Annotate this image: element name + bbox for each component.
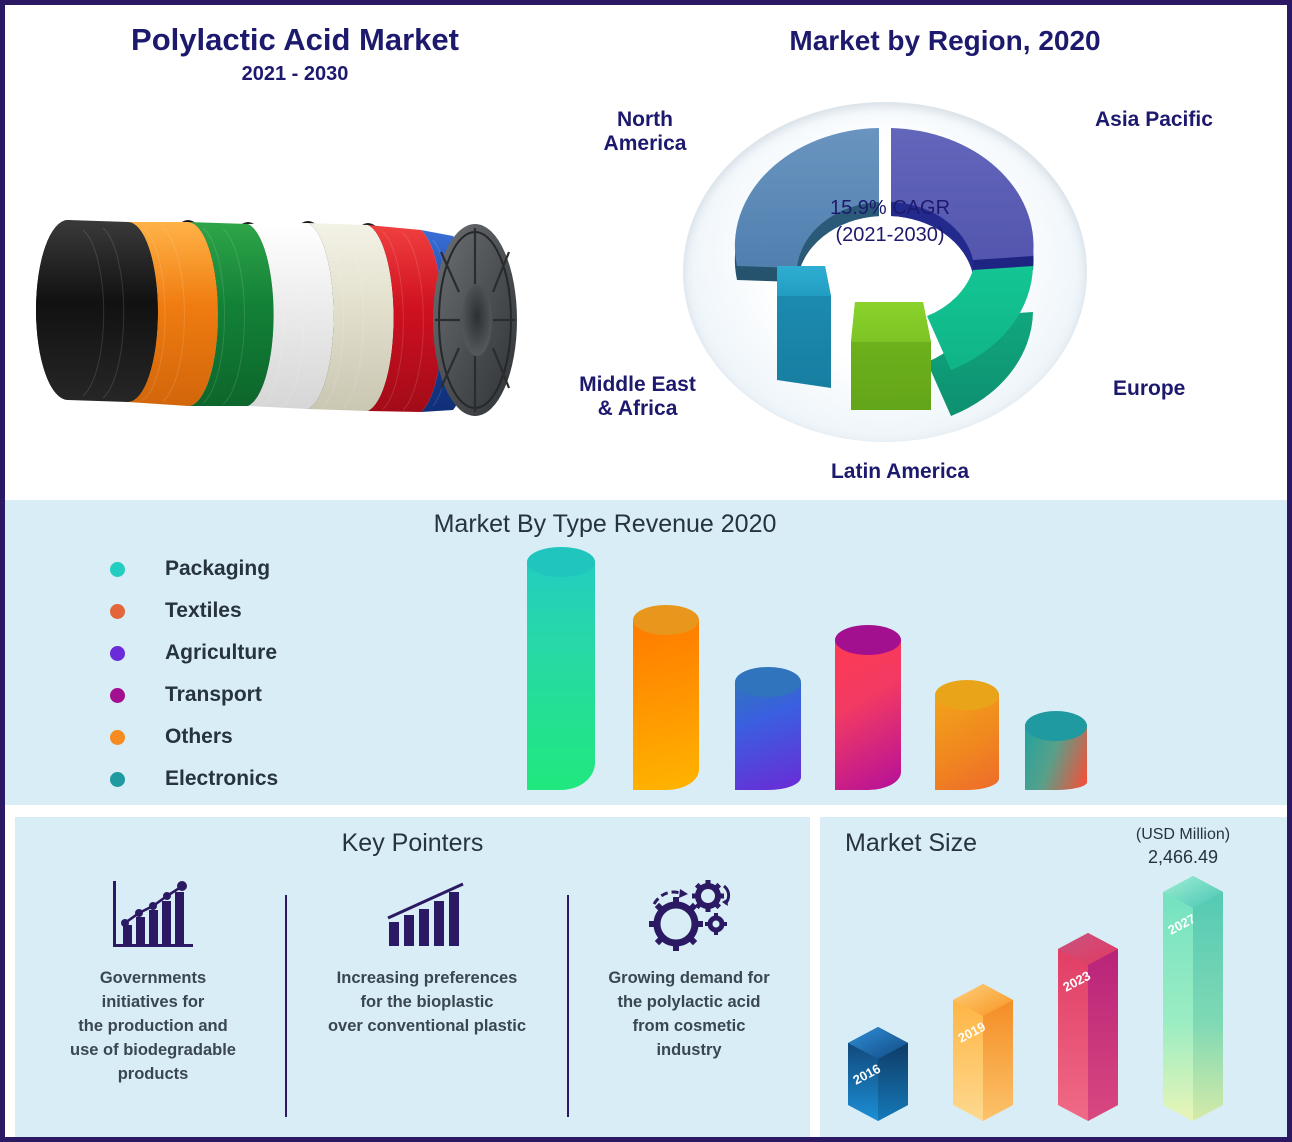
legend-label-packaging: Packaging <box>165 557 270 581</box>
cylinder-top <box>633 605 699 635</box>
size-bar-2019: 2019 <box>953 984 1013 1121</box>
cylinder-body <box>527 562 595 790</box>
cylinder-body <box>735 682 801 790</box>
legend-label-agriculture: Agriculture <box>165 641 277 665</box>
page-subtitle: 2021 - 2030 <box>35 63 555 86</box>
legend-item-transport: Transport <box>110 674 278 716</box>
region-label-asia-pacific: Asia Pacific <box>1095 108 1270 132</box>
cylinder-transport <box>835 640 901 790</box>
region-label-north-america: North America <box>580 108 710 156</box>
pointer-divider-1 <box>285 895 287 1117</box>
type-cylinder-bars <box>505 540 1095 790</box>
key-pointer-1: Governments initiatives for the producti… <box>27 877 279 1087</box>
market-by-type-panel: Market By Type Revenue 2020 Packaging Te… <box>5 500 1287 805</box>
type-chart-title: Market By Type Revenue 2020 <box>305 510 905 539</box>
donut-segment-middle-east-africa <box>777 266 831 388</box>
market-size-bars: 2016 2019 2023 2027 <box>820 817 1287 1137</box>
region-label-europe: Europe <box>1113 377 1243 401</box>
filament-spools-image <box>23 160 523 470</box>
region-label-latin-america: Latin America <box>775 460 1025 484</box>
cylinder-body <box>835 640 901 790</box>
cylinder-others <box>935 694 999 790</box>
infographic-page: Polylactic Acid Market 2021 - 2030 <box>0 0 1292 1142</box>
legend-item-textiles: Textiles <box>110 590 278 632</box>
title-block: Polylactic Acid Market 2021 - 2030 <box>35 23 555 86</box>
legend-label-electronics: Electronics <box>165 767 278 791</box>
region-donut-chart <box>665 80 1105 460</box>
key-pointer-2-text: Increasing preferences for the bioplasti… <box>293 967 561 1039</box>
legend-dot-textiles <box>110 604 125 619</box>
market-size-panel: Market Size (USD Million) 2,466.49 <box>820 817 1287 1137</box>
cagr-annotation: 15.9% CAGR (2021-2030) <box>805 195 975 249</box>
donut-segment-latin-america <box>851 302 931 410</box>
legend-item-electronics: Electronics <box>110 758 278 800</box>
key-pointer-3-text: Growing demand for the polylactic acid f… <box>575 967 803 1063</box>
cylinder-packaging <box>527 562 595 790</box>
type-legend: Packaging Textiles Agriculture Transport… <box>110 548 278 800</box>
cylinder-top <box>835 625 901 655</box>
donut-segment-europe <box>927 266 1033 416</box>
cagr-value: 15.9% CAGR <box>805 195 975 222</box>
page-title: Polylactic Acid Market <box>35 23 555 57</box>
legend-dot-electronics <box>110 772 125 787</box>
legend-dot-transport <box>110 688 125 703</box>
legend-item-packaging: Packaging <box>110 548 278 590</box>
legend-item-others: Others <box>110 716 278 758</box>
legend-dot-agriculture <box>110 646 125 661</box>
key-pointer-2: Increasing preferences for the bioplasti… <box>293 877 561 1039</box>
cagr-period: (2021-2030) <box>805 222 975 249</box>
region-label-middle-east-africa: Middle East & Africa <box>555 373 720 421</box>
legend-dot-packaging <box>110 562 125 577</box>
cylinder-textiles <box>633 620 699 790</box>
donut-svg <box>665 80 1105 460</box>
key-pointer-1-text: Governments initiatives for the producti… <box>27 967 279 1087</box>
cylinder-agriculture <box>735 682 801 790</box>
cylinder-body <box>633 620 699 790</box>
key-pointer-3: Growing demand for the polylactic acid f… <box>575 877 803 1063</box>
region-chart-title: Market by Region, 2020 <box>665 25 1225 57</box>
bar-chart-trend-icon <box>293 877 561 955</box>
legend-label-others: Others <box>165 725 233 749</box>
legend-label-textiles: Textiles <box>165 599 242 623</box>
key-pointers-title: Key Pointers <box>15 829 810 858</box>
size-bar-2027: 2027 <box>1163 876 1223 1121</box>
pointer-divider-2 <box>567 895 569 1117</box>
size-bar-2023: 2023 <box>1058 933 1118 1121</box>
cylinder-top <box>1025 711 1087 741</box>
key-pointers-panel: Key Pointers <box>15 817 810 1137</box>
growth-chart-icon <box>27 877 279 955</box>
cylinder-top <box>935 680 999 710</box>
top-section: Polylactic Acid Market 2021 - 2030 <box>5 5 1287 500</box>
cylinder-top <box>735 667 801 697</box>
cylinder-top <box>527 547 595 577</box>
legend-label-transport: Transport <box>165 683 262 707</box>
size-bar-2016: 2016 <box>848 1027 908 1121</box>
legend-item-agriculture: Agriculture <box>110 632 278 674</box>
gears-icon <box>575 877 803 955</box>
cylinder-electronics <box>1025 724 1087 790</box>
legend-dot-others <box>110 730 125 745</box>
